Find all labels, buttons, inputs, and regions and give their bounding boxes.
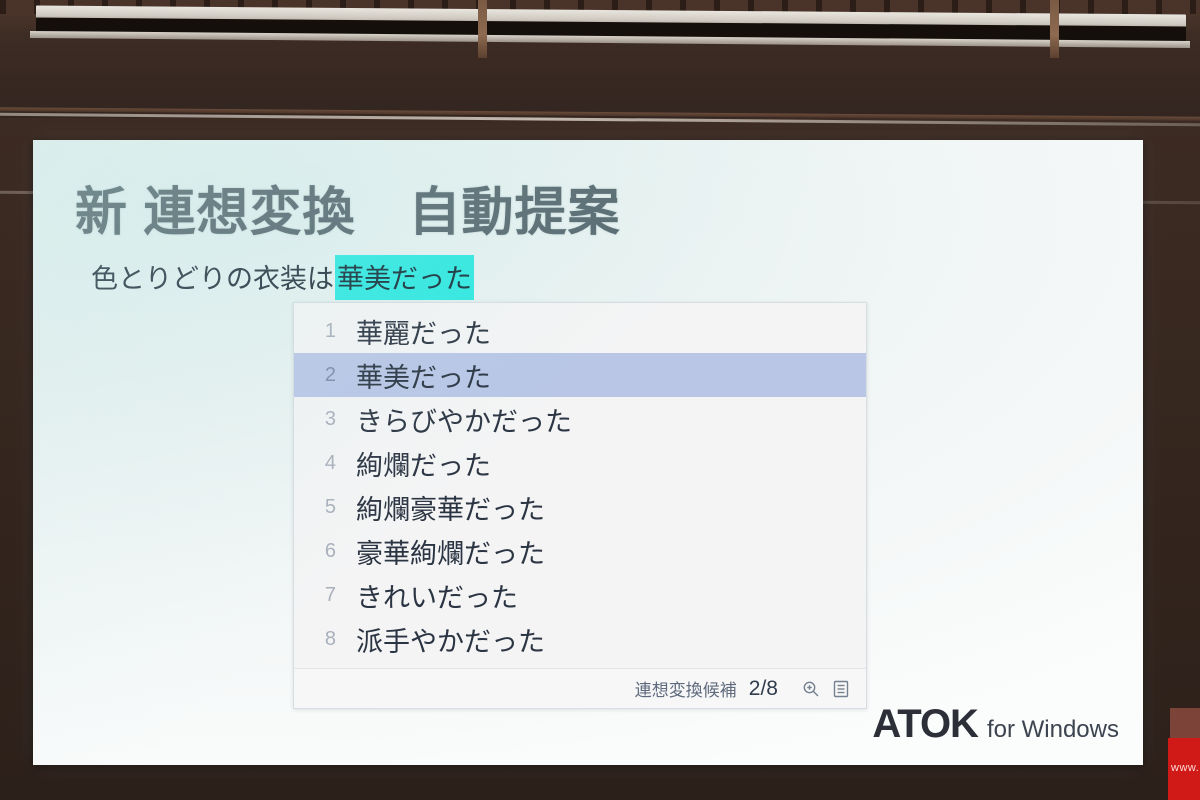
sentence-plain-text: 色とりどりの衣装は: [91, 257, 334, 296]
candidate-page-counter: 2/8: [749, 677, 778, 701]
slide-title: 新 連想変換 自動提案: [75, 170, 620, 245]
sentence-highlighted-text: 華美だった: [335, 255, 474, 300]
candidate-row-4[interactable]: 4 絢爛だった: [294, 441, 866, 485]
candidate-label: 絢爛豪華だった: [356, 488, 545, 527]
candidate-number: 5: [302, 496, 336, 519]
candidate-row-3[interactable]: 3 きらびやかだった: [294, 397, 866, 441]
candidate-row-1[interactable]: 1 華麗だった: [294, 309, 866, 353]
room-scene: 新 連想変換 自動提案 色とりどりの衣装は 華美だった 1 華麗だった 2 華美…: [0, 0, 1200, 800]
candidate-label: 豪華絢爛だった: [356, 532, 545, 571]
candidate-number: 3: [302, 408, 336, 431]
atok-logo: ATOK for Windows: [872, 702, 1119, 747]
candidate-row-2-selected[interactable]: 2 華美だった: [294, 353, 866, 397]
banner-url-text: www.: [1171, 762, 1199, 774]
candidate-row-7[interactable]: 7 きれいだった: [294, 573, 866, 617]
candidate-number: 8: [302, 628, 336, 651]
projected-slide: 新 連想変換 自動提案 色とりどりの衣装は 華美だった 1 華麗だった 2 華美…: [33, 140, 1143, 765]
candidate-number: 6: [302, 540, 336, 563]
candidate-list[interactable]: 1 華麗だった 2 華美だった 3 きらびやかだった 4 絢爛だった 5: [294, 309, 866, 661]
candidate-number: 2: [302, 364, 336, 387]
banner-upper-block: [1170, 708, 1200, 738]
candidate-number: 4: [302, 452, 336, 475]
candidate-label: きらびやかだった: [356, 400, 572, 439]
candidate-label: 派手やかだった: [356, 620, 545, 659]
magnifier-plus-icon[interactable]: [800, 678, 822, 700]
document-list-icon[interactable]: [830, 678, 852, 700]
atok-wordmark: ATOK: [872, 702, 978, 747]
candidate-row-5[interactable]: 5 絢爛豪華だった: [294, 485, 866, 529]
candidate-label: 華麗だった: [356, 312, 491, 351]
candidate-number: 7: [302, 584, 336, 607]
red-banner: www.: [1168, 738, 1200, 800]
candidate-label: 華美だった: [356, 356, 491, 395]
rail-hanger-left: [478, 0, 487, 58]
sample-sentence: 色とりどりの衣装は 華美だった: [91, 255, 474, 300]
candidate-popup-footer: 連想変換候補 2/8: [294, 668, 866, 708]
candidate-label: きれいだった: [356, 576, 518, 615]
candidate-label: 絢爛だった: [356, 444, 491, 483]
conversion-candidate-popup[interactable]: 1 華麗だった 2 華美だった 3 きらびやかだった 4 絢爛だった 5: [293, 302, 867, 709]
candidate-row-6[interactable]: 6 豪華絢爛だった: [294, 529, 866, 573]
atok-logo-suffix: for Windows: [987, 716, 1119, 744]
rail-hanger-right: [1050, 0, 1059, 58]
candidate-footer-label: 連想変換候補: [635, 676, 737, 701]
candidate-number: 1: [302, 320, 336, 343]
candidate-row-8[interactable]: 8 派手やかだった: [294, 617, 866, 661]
